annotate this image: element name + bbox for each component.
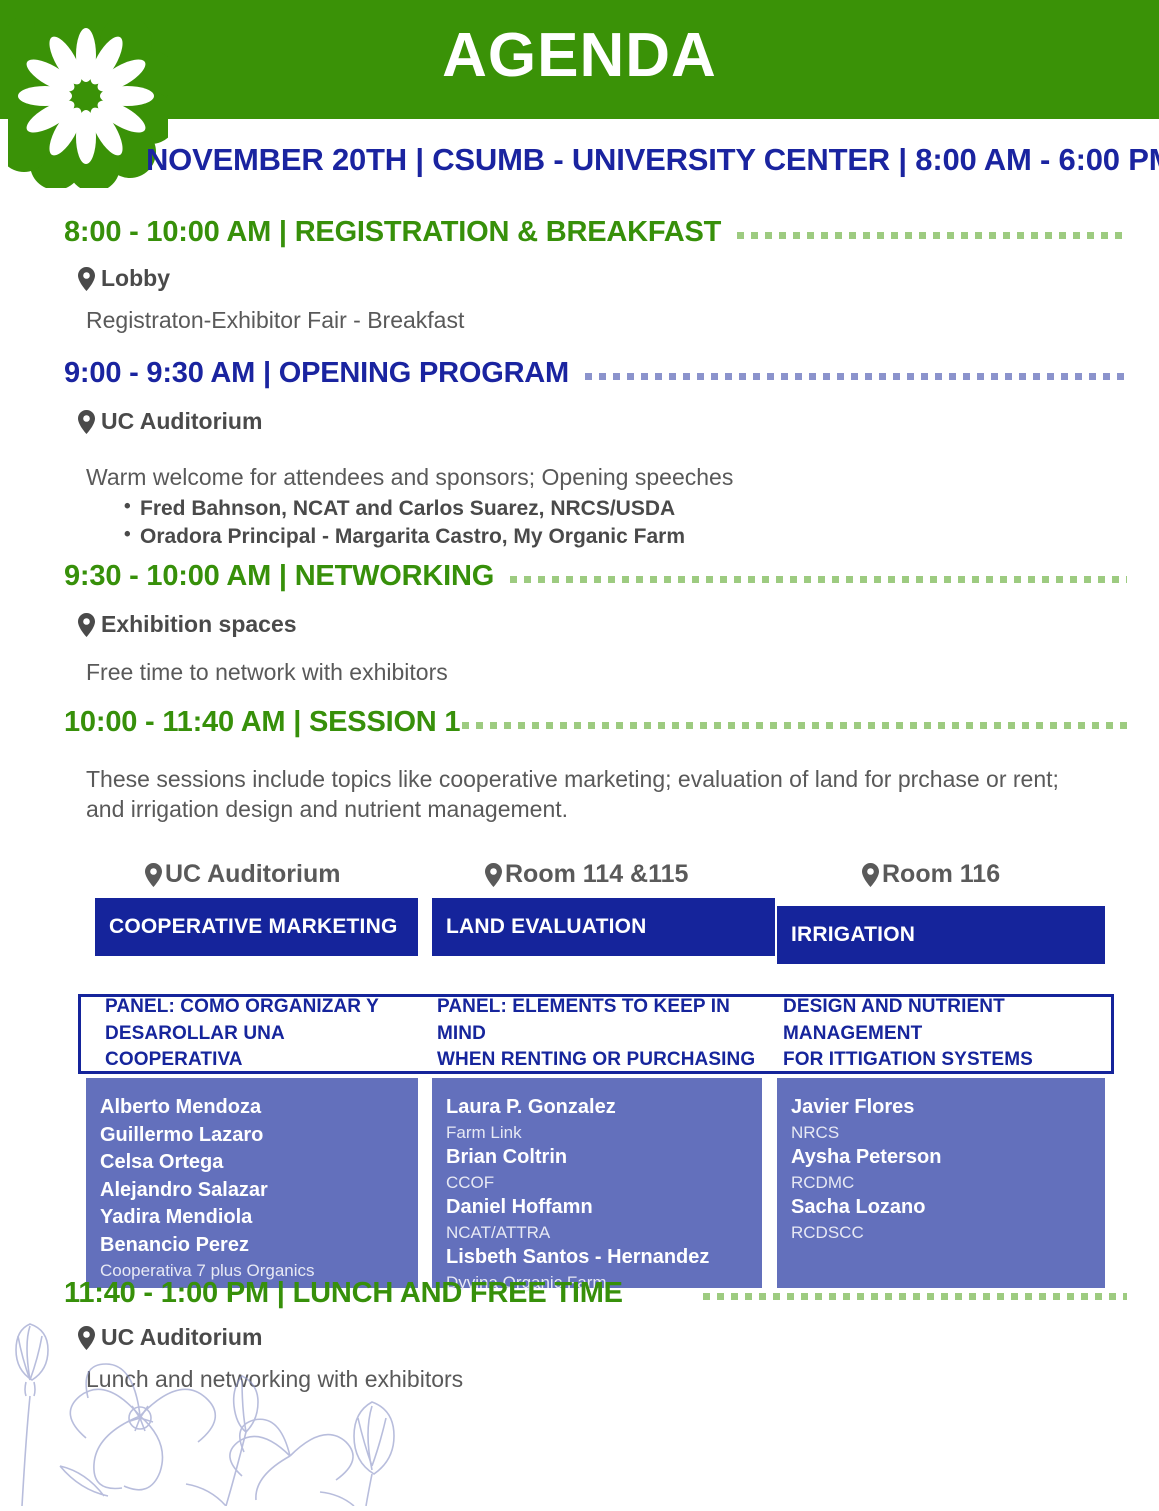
speaker-org: RCDMC — [791, 1172, 1091, 1194]
session-tracks-table: UC Auditorium Room 114 &115 Room 116 COO… — [0, 860, 1159, 1292]
speaker-name: Celsa Ortega — [100, 1149, 404, 1177]
agenda-section-opening-program: 9:00 - 9:30 AM | OPENING PROGRAM UC Audi… — [0, 357, 1159, 552]
location-label: Lobby — [101, 265, 170, 292]
room-label-col3: Room 116 — [862, 860, 1000, 889]
speaker-name: Alberto Mendoza — [100, 1094, 404, 1122]
speaker-org: NRCS — [791, 1122, 1091, 1144]
speaker-org: CCOF — [446, 1172, 748, 1194]
track-title: COOPERATIVE MARKETING — [109, 915, 398, 939]
section-time-title: 11:40 - 1:00 PM | LUNCH AND FREE TIME — [64, 1277, 623, 1310]
speaker-box-land-evaluation: Laura P. Gonzalez Farm Link Brian Coltri… — [432, 1078, 762, 1288]
divider-dots — [703, 1293, 1127, 1300]
section-description: Free time to network with exhibitors — [0, 658, 1159, 688]
section-time-title: 9:00 - 9:30 AM | OPENING PROGRAM — [64, 357, 569, 390]
agenda-section-registration: 8:00 - 10:00 AM | REGISTRATION & BREAKFA… — [0, 216, 1159, 336]
panel-title-col1: PANEL: COMO ORGANIZAR Y DESAROLLAR UNA C… — [105, 997, 425, 1071]
panel-titles-band: PANEL: COMO ORGANIZAR Y DESAROLLAR UNA C… — [78, 994, 1114, 1074]
location-label: UC Auditorium — [101, 408, 262, 435]
section-header: 9:00 - 9:30 AM | OPENING PROGRAM — [0, 357, 1159, 390]
room-label-col1: UC Auditorium — [145, 860, 340, 889]
location-pin-icon — [78, 410, 95, 434]
location-label: UC Auditorium — [101, 1324, 262, 1351]
section-time-title: 8:00 - 10:00 AM | REGISTRATION & BREAKFA… — [64, 216, 721, 249]
panel-title-col2: PANEL: ELEMENTS TO KEEP IN MIND WHEN REN… — [437, 997, 767, 1071]
room-label-col2: Room 114 &115 — [485, 860, 688, 889]
room-name: Room 116 — [882, 860, 1000, 889]
speaker-name: Daniel Hoffamn — [446, 1194, 748, 1222]
location-pin-icon — [78, 267, 95, 291]
divider-dots — [585, 373, 1127, 380]
track-header-irrigation[interactable]: IRRIGATION — [777, 906, 1105, 964]
divider-dots — [737, 232, 1127, 239]
section-time-title: 10:00 - 11:40 AM | SESSION 1 — [64, 706, 460, 739]
section-header: 9:30 - 10:00 AM | NETWORKING — [0, 560, 1159, 593]
speaker-name: Sacha Lozano — [791, 1194, 1091, 1222]
location-pin-icon — [862, 863, 879, 887]
speaker-name: Brian Coltrin — [446, 1144, 748, 1172]
section-location: UC Auditorium — [0, 408, 1159, 435]
page-title: AGENDA — [0, 0, 1159, 119]
section-header: 11:40 - 1:00 PM | LUNCH AND FREE TIME — [0, 1277, 1159, 1310]
location-label: Exhibition spaces — [101, 611, 297, 638]
speaker-name: Javier Flores — [791, 1094, 1091, 1122]
agenda-section-session-1: 10:00 - 11:40 AM | SESSION 1 These sessi… — [0, 706, 1159, 825]
speaker-name: Lisbeth Santos - Hernandez — [446, 1244, 748, 1272]
speaker-name: Guillermo Lazaro — [100, 1122, 404, 1150]
panel-title-line2: DESAROLLAR UNA COOPERATIVA — [105, 1021, 425, 1075]
event-subtitle: NOVEMBER 20TH | CSUMB - UNIVERSITY CENTE… — [146, 142, 1159, 178]
panel-title-line2: FOR ITTIGATION SYSTEMS — [783, 1047, 1113, 1074]
speaker-name: Benancio Perez — [100, 1232, 404, 1260]
room-label-row: UC Auditorium Room 114 &115 Room 116 — [0, 860, 1159, 898]
track-title: IRRIGATION — [791, 923, 915, 947]
divider-dots — [510, 576, 1127, 583]
location-pin-icon — [145, 863, 162, 887]
panel-title-line1: DESIGN AND NUTRIENT MANAGEMENT — [783, 994, 1113, 1048]
agenda-section-networking: 9:30 - 10:00 AM | NETWORKING Exhibition … — [0, 560, 1159, 688]
section-location: Exhibition spaces — [0, 611, 1159, 638]
track-title: LAND EVALUATION — [446, 915, 647, 939]
panel-title-line1: PANEL: COMO ORGANIZAR Y — [105, 994, 425, 1021]
location-pin-icon — [485, 863, 502, 887]
speaker-name: Laura P. Gonzalez — [446, 1094, 748, 1122]
section-header: 10:00 - 11:40 AM | SESSION 1 — [0, 706, 1159, 739]
section-header: 8:00 - 10:00 AM | REGISTRATION & BREAKFA… — [0, 216, 1159, 249]
room-name: Room 114 &115 — [505, 860, 688, 889]
panel-title-line2: WHEN RENTING OR PURCHASING — [437, 1047, 767, 1074]
speaker-box-irrigation: Javier Flores NRCS Aysha Peterson RCDMC … — [777, 1078, 1105, 1288]
track-header-cooperative-marketing[interactable]: COOPERATIVE MARKETING — [95, 898, 418, 956]
divider-dots — [462, 722, 1127, 729]
daisy-flower-logo-icon — [8, 18, 168, 188]
section-location: Lobby — [0, 265, 1159, 292]
room-name: UC Auditorium — [165, 860, 340, 889]
speaker-box-row: Alberto Mendoza Guillermo Lazaro Celsa O… — [0, 1078, 1159, 1292]
panel-title-col3: DESIGN AND NUTRIENT MANAGEMENT FOR ITTIG… — [783, 997, 1113, 1071]
speaker-org: RCDSCC — [791, 1222, 1091, 1244]
speaker-org: NCAT/ATTRA — [446, 1222, 748, 1244]
speaker-bullet-list: Fred Bahnson, NCAT and Carlos Suarez, NR… — [0, 495, 1159, 552]
panel-title-line1: PANEL: ELEMENTS TO KEEP IN MIND — [437, 994, 767, 1048]
section-location: UC Auditorium — [0, 1324, 1159, 1351]
speaker-name: Yadira Mendiola — [100, 1204, 404, 1232]
agenda-section-lunch: 11:40 - 1:00 PM | LUNCH AND FREE TIME UC… — [0, 1277, 1159, 1395]
location-pin-icon — [78, 613, 95, 637]
speaker-name: Aysha Peterson — [791, 1144, 1091, 1172]
section-description: Lunch and networking with exhibitors — [0, 1365, 1159, 1395]
speaker-box-cooperative-marketing: Alberto Mendoza Guillermo Lazaro Celsa O… — [86, 1078, 418, 1288]
section-description: Warm welcome for attendees and sponsors;… — [0, 463, 1159, 493]
list-item: Fred Bahnson, NCAT and Carlos Suarez, NR… — [124, 495, 1159, 523]
list-item: Oradora Principal - Margarita Castro, My… — [124, 523, 1159, 551]
speaker-org: Farm Link — [446, 1122, 748, 1144]
section-description: Registraton-Exhibitor Fair - Breakfast — [0, 306, 1159, 336]
track-header-row: COOPERATIVE MARKETING LAND EVALUATION IR… — [0, 898, 1159, 956]
section-time-title: 9:30 - 10:00 AM | NETWORKING — [64, 560, 494, 593]
location-pin-icon — [78, 1326, 95, 1350]
speaker-name: Alejandro Salazar — [100, 1177, 404, 1205]
track-header-land-evaluation[interactable]: LAND EVALUATION — [432, 898, 775, 956]
section-description: These sessions include topics like coope… — [0, 765, 1159, 825]
